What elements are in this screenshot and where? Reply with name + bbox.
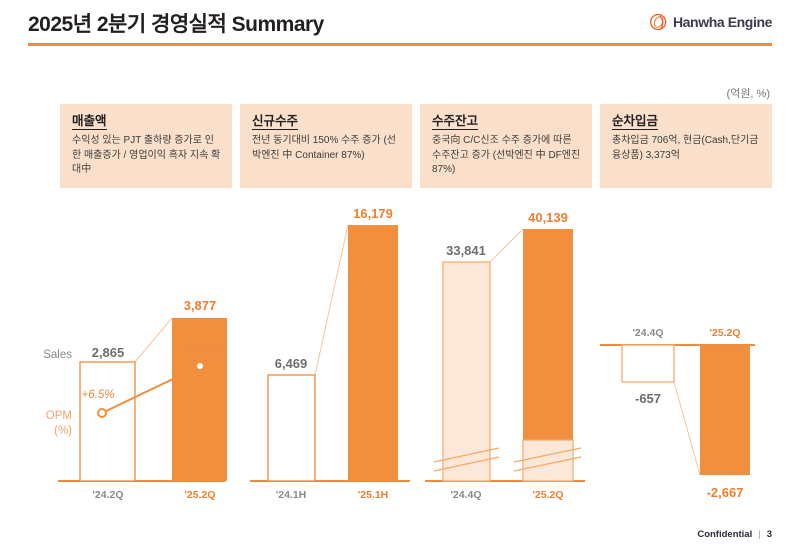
summary-box-desc: 중국向 C/C신조 수주 증가에 따른 수주잔고 증가 (선박엔진 中 DF엔진… [432,134,582,178]
summary-box-sales: 매출액 수익성 있는 PJT 출하량 증가로 인한 매출증가 / 영업이익 흑자… [60,104,232,188]
summary-box-title: 순차입금 [612,114,658,130]
summary-box-group: 매출액 수익성 있는 PJT 출하량 증가로 인한 매출증가 / 영업이익 흑자… [0,104,800,188]
opm-value-current: +8.7% [187,344,220,356]
trend-connector [674,382,700,475]
opm-axis-label-line2: (%) [54,425,72,437]
x-axis-label-current: '25.2Q [184,489,215,501]
bar-value-prev: 2,865 [92,345,125,360]
bar-value-prev: -657 [635,391,661,406]
trend-connector [315,225,348,375]
bar-value-current: -2,667 [707,485,744,500]
header-divider [28,43,772,46]
brand-logo: Hanwha Engine [649,12,772,32]
x-axis-label-current: '25.2Q [709,327,740,339]
footer: Confidential | 3 [697,529,772,540]
footer-confidential: Confidential [697,529,752,540]
summary-box-desc: 수익성 있는 PJT 출하량 증가로 인한 매출증가 / 영업이익 흑자 지속 … [72,134,222,178]
summary-box-desc: 전년 동기대비 150% 수주 증가 (선박엔진 中 Container 87%… [252,134,402,163]
x-axis-label-current: '25.2Q [532,489,563,501]
unit-note: (억원, %) [727,85,770,101]
x-axis-label-prev: '24.2Q [92,489,123,501]
summary-box-net-debt: 순차입금 총차입금 706억, 현금(Cash,단기금융상품) 3,373억 [600,104,772,188]
trend-connector [490,229,523,262]
hanwha-circle-logo-icon [649,12,669,32]
bar-prev [443,262,490,481]
summary-box-desc: 총차입금 706억, 현금(Cash,단기금융상품) 3,373억 [612,134,762,163]
opm-point-current [196,362,204,370]
chart-net-debt: '24.4Q '25.2Q -657 -2,667 [600,190,790,510]
chart-sales: Sales 2,865 3,877 OPM (%) +6.5% +8.7% '2… [20,190,240,510]
bar-value-prev: 33,841 [446,243,486,258]
summary-box-title: 신규수주 [252,114,298,130]
opm-axis-label-line1: OPM [46,410,72,422]
footer-page-number: 3 [767,529,772,540]
bar-current [700,345,750,475]
page-title: 2025년 2분기 경영실적 Summary [28,8,324,38]
opm-point-prev [98,409,106,417]
summary-box-new-orders: 신규수주 전년 동기대비 150% 수주 증가 (선박엔진 中 Containe… [240,104,412,188]
chart-order-backlog: 33,841 40,139 '24.4Q '25.2Q [420,190,605,510]
bar-prev [80,362,135,481]
bar-prev [622,345,674,382]
slide-root: 2025년 2분기 경영실적 Summary Hanwha Engine (억원… [0,0,800,550]
summary-box-title: 매출액 [72,114,107,130]
brand-name: Hanwha Engine [673,14,772,30]
bar-prev [268,375,315,481]
x-axis-label-prev: '24.4Q [632,327,663,339]
x-axis-label-prev: '24.4Q [450,489,481,501]
x-axis-label-current: '25.1H [358,489,389,501]
bar-value-current: 16,179 [353,206,393,221]
summary-box-order-backlog: 수주잔고 중국向 C/C신조 수주 증가에 따른 수주잔고 증가 (선박엔진 中… [420,104,592,188]
bar-current [172,318,227,481]
opm-value-prev: +6.5% [82,389,115,401]
trend-connector [135,318,172,362]
x-axis-label-prev: '24.1H [276,489,307,501]
bar-value-current: 3,877 [184,298,217,313]
summary-box-title: 수주잔고 [432,114,478,130]
bar-value-current: 40,139 [528,210,568,225]
sales-series-label: Sales [43,349,72,361]
chart-new-orders: 6,469 16,179 '24.1H '25.1H [245,190,435,510]
bar-current [348,225,398,481]
footer-separator: | [758,529,760,540]
bar-value-prev: 6,469 [275,356,308,371]
